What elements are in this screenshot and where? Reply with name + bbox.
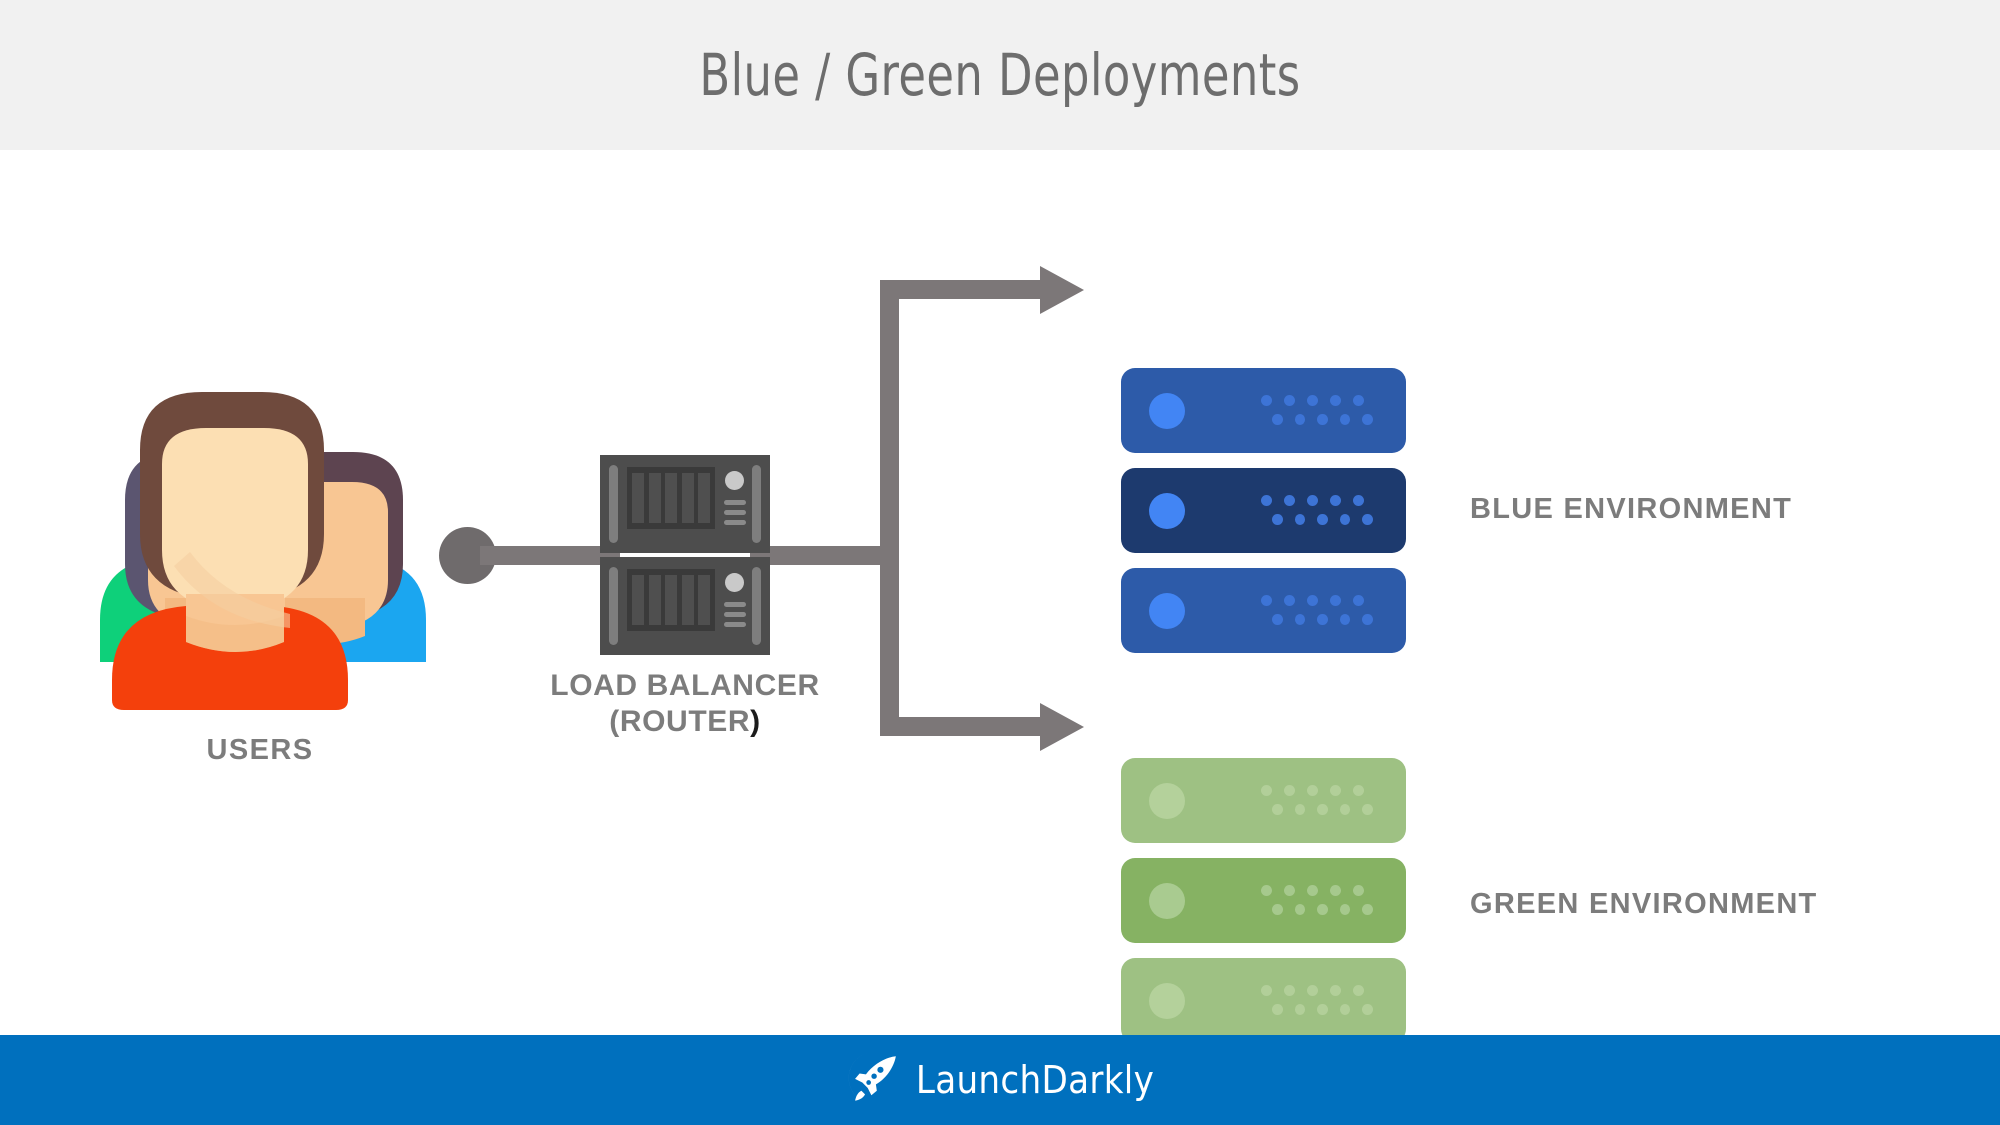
arrow-head-blue-icon [1040, 266, 1084, 314]
server-dots [1261, 785, 1373, 823]
indicator-bar [724, 612, 746, 617]
server-dots [1261, 885, 1373, 923]
drive-bay-panel [627, 569, 715, 631]
server-dots [1261, 595, 1373, 633]
indicator-bars [724, 500, 746, 530]
server-dots [1261, 495, 1373, 533]
launchdarkly-logo: LaunchDarkly [846, 1049, 1154, 1112]
wire-users-to-load-balancer [480, 546, 620, 565]
launchdarkly-wordmark: LaunchDarkly [916, 1058, 1154, 1102]
load-balancer-tier-bottom [600, 557, 770, 655]
page-title: Blue / Green Deployments [140, 0, 1860, 150]
load-balancer-label: LOAD BALANCER (ROUTER) [500, 668, 870, 740]
server-led-icon [1149, 593, 1185, 629]
server-dots [1261, 395, 1373, 433]
drive-slot [698, 575, 710, 625]
drive-slot [665, 575, 677, 625]
footer-bar: LaunchDarkly [0, 1035, 2000, 1125]
rack-handle-left [609, 567, 618, 645]
users-group-icon [70, 380, 450, 710]
dot-row [1261, 395, 1373, 406]
server-led-icon [1149, 883, 1185, 919]
fork-branch-to-green [880, 717, 1043, 736]
server-unit [1121, 958, 1406, 1043]
fork-branch-to-blue [880, 280, 1043, 299]
load-balancer-label-line2: (ROUTER) [500, 704, 870, 740]
indicator-bar [724, 602, 746, 607]
rack-handle-left [609, 465, 618, 543]
server-led-icon [1149, 393, 1185, 429]
green-environment-label: GREEN ENVIRONMENT [1470, 888, 1818, 921]
server-led-icon [1149, 493, 1185, 529]
indicator-bars [724, 602, 746, 632]
drive-slot [632, 575, 644, 625]
drive-slot [682, 473, 694, 523]
server-unit [1121, 368, 1406, 453]
arrow-head-green-icon [1040, 703, 1084, 751]
load-balancer-label-router: (ROUTER [609, 705, 750, 738]
drive-slot [649, 575, 661, 625]
server-unit-active [1121, 858, 1406, 943]
diagram-canvas: USERS [0, 150, 2000, 1035]
dot-row [1272, 414, 1373, 425]
indicator-bar [724, 622, 746, 627]
server-unit [1121, 568, 1406, 653]
load-balancer-icon [600, 455, 770, 655]
dot-row [1261, 495, 1373, 506]
server-led-icon [1149, 783, 1185, 819]
server-dots [1261, 985, 1373, 1023]
blue-environment-label: BLUE ENVIRONMENT [1470, 493, 1792, 526]
routing-fork-connector [880, 280, 1110, 755]
load-balancer-label-line1: LOAD BALANCER [500, 668, 870, 704]
drive-slot [665, 473, 677, 523]
dot-row [1272, 904, 1373, 915]
drive-bay-panel [627, 467, 715, 529]
users-label: USERS [70, 734, 450, 767]
status-led-icon [725, 573, 744, 592]
load-balancer-label-paren: ) [750, 705, 761, 738]
blue-environment-server-stack [1121, 368, 1406, 653]
dot-row [1272, 804, 1373, 815]
load-balancer-tier-top [600, 455, 770, 553]
indicator-bar [724, 520, 746, 525]
rack-handle-right [752, 465, 761, 543]
dot-row [1261, 785, 1373, 796]
launchdarkly-rocket-icon [846, 1049, 904, 1112]
server-unit-active [1121, 468, 1406, 553]
server-unit [1121, 758, 1406, 843]
drive-slot [649, 473, 661, 523]
rack-handle-right [752, 567, 761, 645]
server-led-icon [1149, 983, 1185, 1019]
green-environment-server-stack [1121, 758, 1406, 1048]
dot-row [1272, 614, 1373, 625]
dot-row [1261, 985, 1373, 996]
drive-slot [698, 473, 710, 523]
drive-slot [682, 575, 694, 625]
fork-trunk [880, 280, 899, 736]
dot-row [1272, 1004, 1373, 1015]
wire-load-balancer-to-fork [750, 546, 895, 565]
indicator-bar [724, 500, 746, 505]
drive-slot [632, 473, 644, 523]
dot-row [1261, 595, 1373, 606]
status-led-icon [725, 471, 744, 490]
indicator-bar [724, 510, 746, 515]
dot-row [1261, 885, 1373, 896]
dot-row [1272, 514, 1373, 525]
